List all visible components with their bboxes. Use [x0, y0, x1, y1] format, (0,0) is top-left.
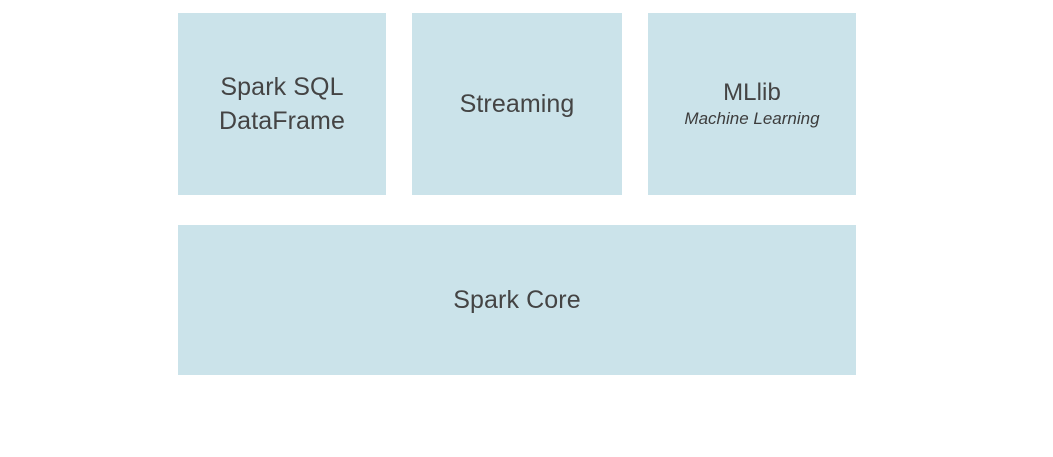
component-box-mllib[interactable]: MLlib Machine Learning — [648, 13, 856, 195]
component-layer-row: Spark SQL DataFrame Streaming MLlib Mach… — [178, 13, 856, 195]
component-box-mllib-title: MLlib — [723, 78, 781, 108]
spark-stack-diagram: Spark SQL DataFrame Streaming MLlib Mach… — [0, 0, 1053, 457]
component-box-spark-sql-title: Spark SQL DataFrame — [219, 70, 345, 138]
component-box-spark-sql[interactable]: Spark SQL DataFrame — [178, 13, 386, 195]
component-box-streaming[interactable]: Streaming — [412, 13, 622, 195]
component-box-mllib-subtitle: Machine Learning — [684, 108, 819, 130]
component-box-spark-core[interactable]: Spark Core — [178, 225, 856, 375]
component-box-spark-core-title: Spark Core — [453, 283, 580, 317]
component-box-streaming-title: Streaming — [460, 87, 575, 121]
